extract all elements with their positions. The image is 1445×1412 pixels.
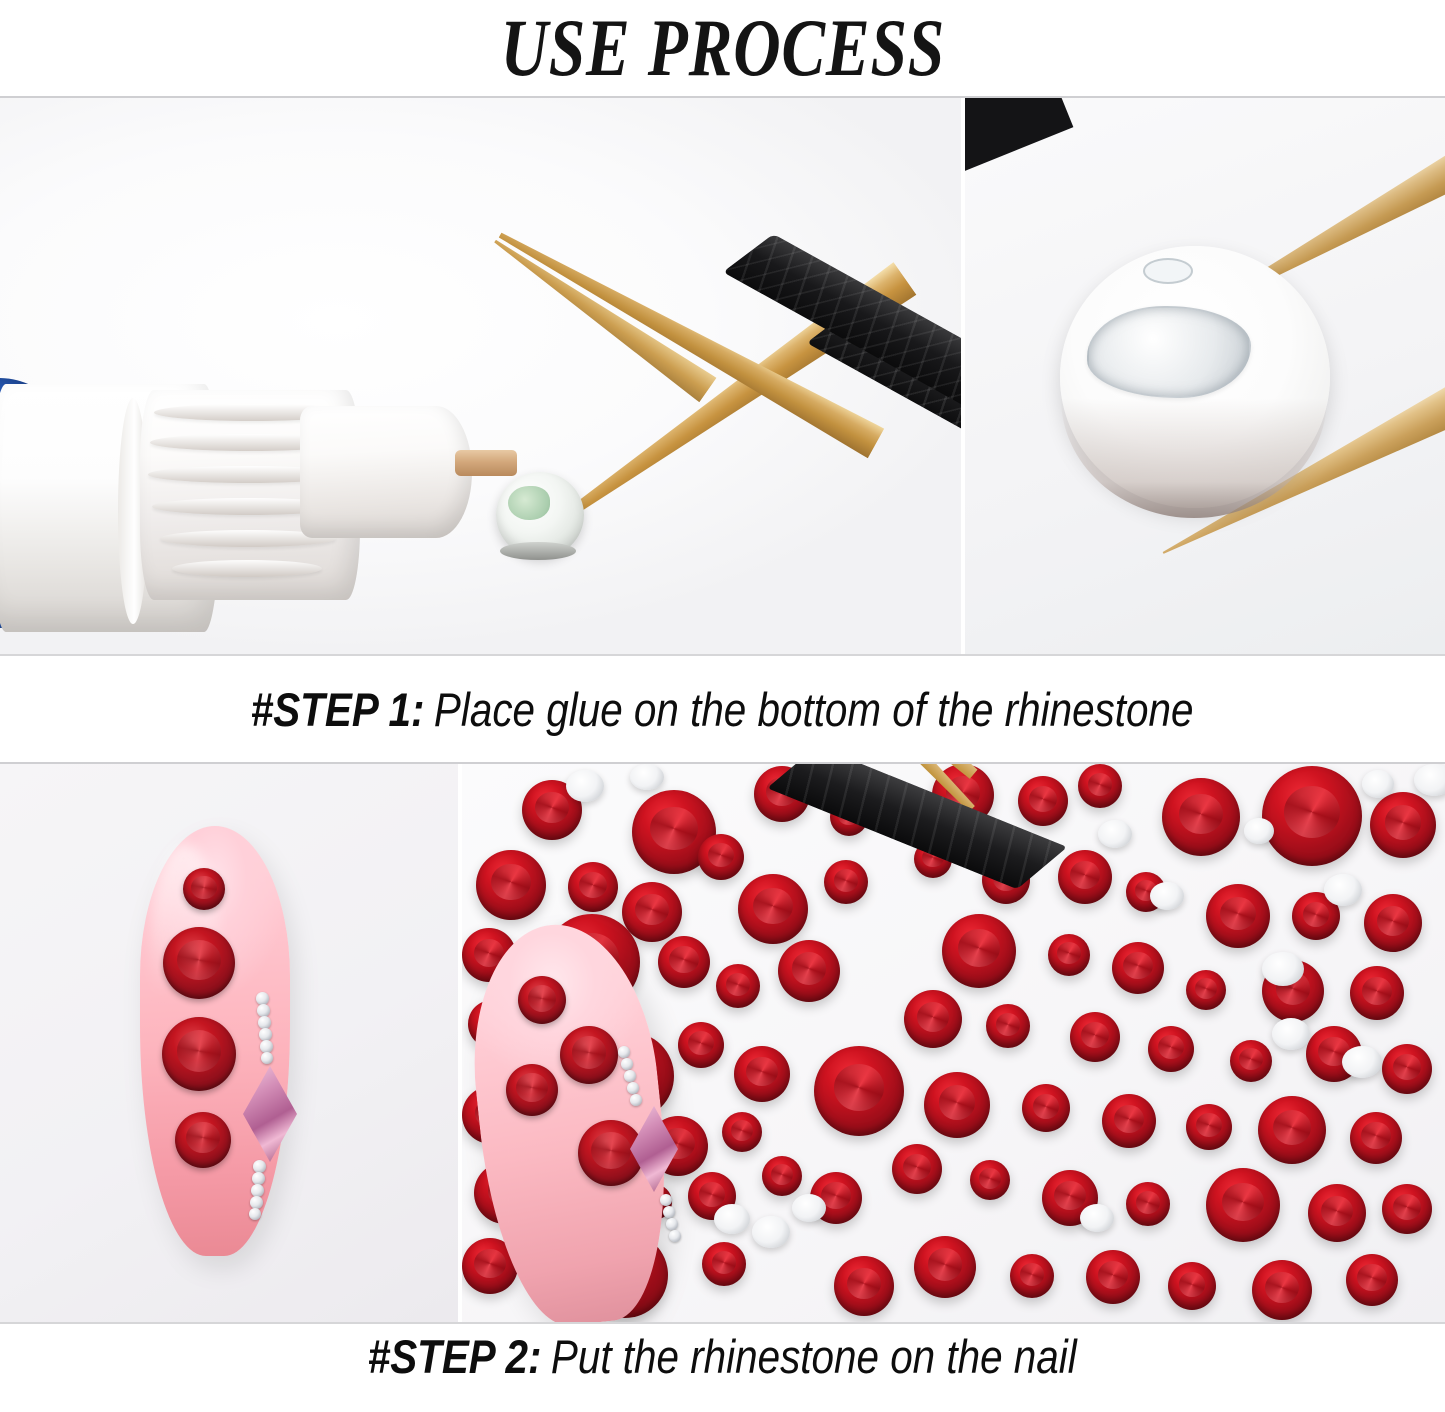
red-rhinestone-large-lower — [162, 1017, 236, 1091]
red-rhinestone — [1308, 1184, 1366, 1242]
red-rhinestone — [970, 1160, 1010, 1200]
red-rhinestone — [1058, 850, 1112, 904]
red-rhinestone — [1070, 1012, 1120, 1062]
rhinestone-silver-back — [1244, 818, 1274, 844]
silver-bead — [249, 1208, 261, 1220]
red-rhinestone — [986, 1004, 1030, 1048]
panel-glue-on-stone-closeup — [961, 98, 1445, 654]
red-rhinestone — [762, 1156, 802, 1196]
red-rhinestone — [904, 990, 962, 1048]
silver-bead — [261, 1052, 273, 1064]
panel-applying-stone — [458, 764, 1445, 1322]
silver-bead — [630, 1094, 642, 1106]
red-rhinestone-medium-bottom — [175, 1112, 231, 1168]
red-rhinestone — [1382, 1184, 1432, 1234]
red-rhinestone — [778, 940, 840, 1002]
red-rhinestone — [1382, 1044, 1432, 1094]
glue-bubble — [1143, 258, 1193, 284]
red-rhinestone — [942, 914, 1016, 988]
red-rhinestone — [1206, 884, 1270, 948]
step-1-photo-row — [0, 96, 1445, 656]
red-rhinestone — [1364, 894, 1422, 952]
silver-bead — [618, 1046, 630, 1058]
red-rhinestone — [834, 1256, 894, 1316]
red-rhinestone — [824, 860, 868, 904]
rhinestone-silver-back — [1150, 882, 1184, 910]
rhinestone-silver-back — [792, 1194, 826, 1222]
red-rhinestone-small-top — [183, 868, 225, 910]
red-rhinestone — [924, 1072, 990, 1138]
red-rhinestone-on-nail — [518, 976, 566, 1024]
rhinestone-silver-back — [1098, 820, 1132, 848]
red-rhinestone — [1168, 1262, 1216, 1310]
rhinestone-silver-back — [1414, 764, 1445, 796]
red-rhinestone — [892, 1144, 942, 1194]
red-rhinestone — [1112, 942, 1164, 994]
red-rhinestone — [622, 882, 682, 942]
step-2-instruction: Put the rhinestone on the nail — [551, 1333, 1077, 1380]
rhinestone-silver-back — [1080, 1204, 1114, 1232]
red-rhinestone — [914, 1236, 976, 1298]
rhinestone-silver-back — [714, 1204, 750, 1234]
rhinestone-flat-base — [500, 542, 576, 560]
red-rhinestone — [722, 1112, 762, 1152]
panel-finished-nail — [0, 764, 458, 1322]
page-title: USE PROCESS — [500, 7, 945, 89]
red-rhinestone — [814, 1046, 904, 1136]
glue-nozzle-metal-tip — [455, 450, 517, 476]
red-rhinestone — [734, 1046, 790, 1102]
silver-bead — [621, 1058, 633, 1070]
silver-bead — [251, 1184, 264, 1197]
silver-bead — [624, 1070, 636, 1082]
silver-bead — [252, 1172, 265, 1185]
red-rhinestone — [698, 834, 744, 880]
red-rhinestone — [1350, 966, 1404, 1020]
red-rhinestone — [1102, 1094, 1156, 1148]
rhinestone-silver-back — [1272, 1018, 1310, 1050]
rhinestone-silver-back — [1324, 874, 1362, 906]
rhinestone-silver-back — [1342, 1046, 1382, 1078]
red-rhinestone — [1230, 1040, 1272, 1082]
silver-bead — [250, 1196, 263, 1209]
red-rhinestone — [1022, 1084, 1070, 1132]
red-rhinestone-large-upper — [163, 927, 235, 999]
red-rhinestone — [1262, 766, 1362, 866]
red-rhinestone — [1078, 764, 1122, 808]
red-rhinestone — [1186, 1104, 1232, 1150]
red-rhinestone-on-nail-picked — [506, 1064, 558, 1116]
silver-bead — [627, 1082, 639, 1094]
red-rhinestone — [1148, 1026, 1194, 1072]
red-rhinestone — [1186, 970, 1226, 1010]
red-rhinestone — [716, 964, 760, 1008]
red-rhinestone — [1018, 776, 1068, 826]
silver-bead — [669, 1230, 681, 1242]
glue-bottle-nozzle — [300, 406, 472, 538]
red-rhinestone — [738, 874, 808, 944]
rhinestone-green-reflection — [508, 486, 550, 520]
red-rhinestone — [702, 1242, 746, 1286]
rhinestone-silver-back — [566, 770, 604, 802]
step-2-caption: #STEP 2: Put the rhinestone on the nail — [0, 1324, 1445, 1388]
red-rhinestone — [658, 936, 710, 988]
red-rhinestone — [1206, 1168, 1280, 1242]
step-1-caption: #STEP 1: Place glue on the bottom of the… — [0, 656, 1445, 762]
silver-bead — [663, 1206, 675, 1218]
step-1-instruction: Place glue on the bottom of the rhinesto… — [434, 686, 1194, 733]
rhinestone-silver-back — [1262, 952, 1304, 986]
red-rhinestone — [476, 850, 546, 920]
red-rhinestone — [1086, 1250, 1140, 1304]
red-rhinestone — [1346, 1254, 1398, 1306]
red-rhinestone — [1162, 778, 1240, 856]
red-rhinestone — [1126, 1182, 1170, 1226]
silver-bead — [253, 1160, 266, 1173]
red-rhinestone — [1350, 1112, 1402, 1164]
red-rhinestone — [1252, 1260, 1312, 1320]
glue-blob — [1087, 306, 1251, 398]
step-2-photo-row — [0, 762, 1445, 1324]
red-rhinestone — [1010, 1254, 1054, 1298]
step-1-label: #STEP 1: — [251, 686, 425, 733]
red-rhinestone — [1370, 792, 1436, 858]
red-rhinestone — [678, 1022, 724, 1068]
silver-bead — [666, 1218, 678, 1230]
rhinestone-silver-back — [630, 764, 664, 790]
red-rhinestone — [568, 862, 618, 912]
red-rhinestone — [1258, 1096, 1326, 1164]
rhinestone-silver-back — [752, 1216, 790, 1248]
red-rhinestone — [1048, 934, 1090, 976]
red-rhinestone-on-nail — [560, 1026, 618, 1084]
panel-glue-bottle-tweezers — [0, 98, 961, 654]
title-bar: USE PROCESS — [0, 0, 1445, 96]
rhinestone-silver-back — [1362, 770, 1394, 798]
silver-bead — [660, 1194, 672, 1206]
step-2-label: #STEP 2: — [368, 1333, 542, 1380]
